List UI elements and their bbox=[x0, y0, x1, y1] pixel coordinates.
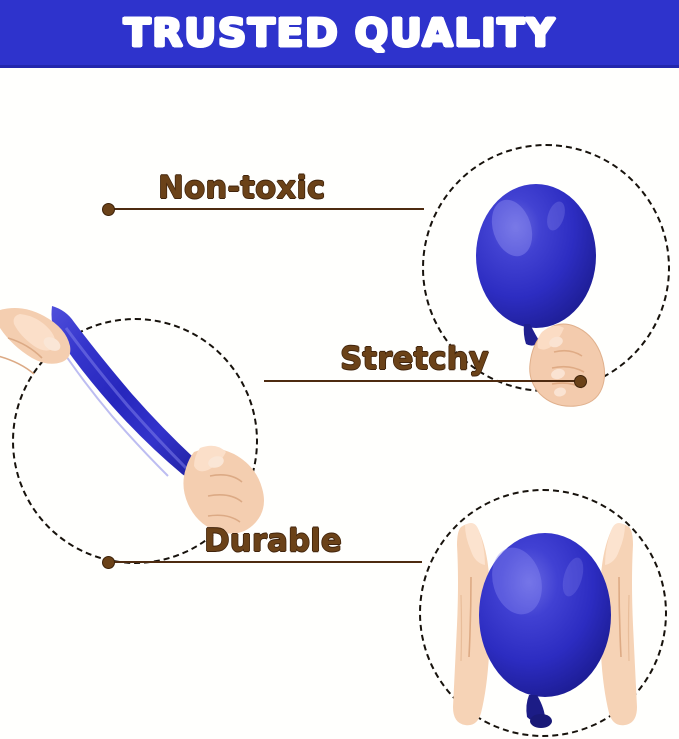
photo-durable bbox=[421, 491, 665, 735]
header-banner: TRUSTED QUALITY bbox=[0, 0, 679, 68]
dashed-circle-icon-durable bbox=[419, 489, 667, 737]
feature-label-durable: Durable bbox=[204, 526, 342, 557]
connector-line-stretchy bbox=[264, 380, 582, 382]
connector-line-non-toxic bbox=[112, 208, 424, 210]
bullet-dot-icon-non-toxic bbox=[102, 203, 115, 216]
feature-stage: Non-toxic bbox=[0, 68, 679, 665]
bullet-dot-icon-durable bbox=[102, 556, 115, 569]
balloon-squeezed-between-hands-illustration bbox=[421, 491, 669, 739]
bullet-dot-icon-stretchy bbox=[574, 375, 587, 388]
page-title: TRUSTED QUALITY bbox=[123, 14, 555, 52]
feature-label-stretchy: Stretchy bbox=[340, 344, 489, 375]
feature-label-non-toxic: Non-toxic bbox=[158, 173, 325, 204]
connector-line-durable bbox=[112, 561, 422, 563]
